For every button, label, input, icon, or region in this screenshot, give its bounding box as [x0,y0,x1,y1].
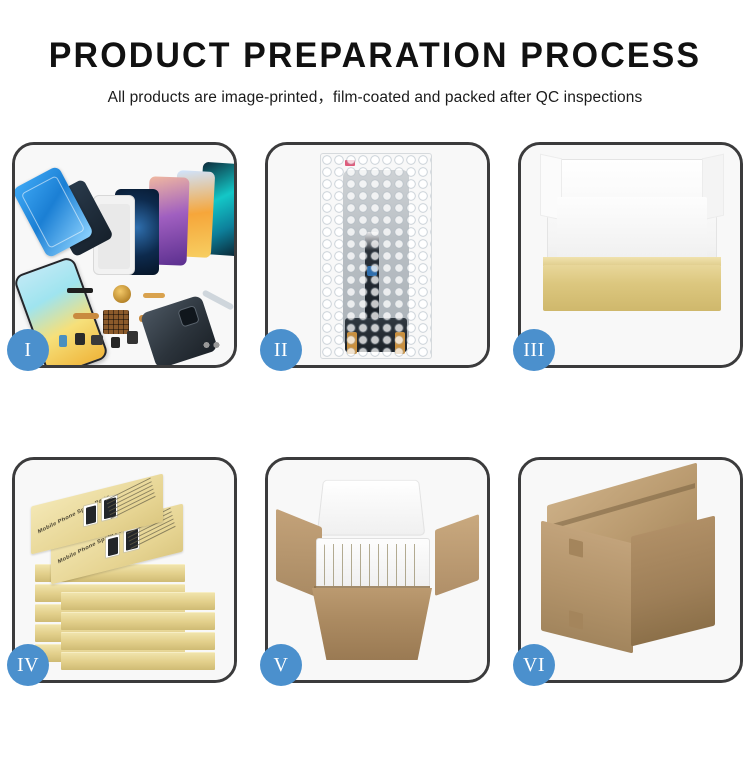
kraft-box-body [543,265,721,311]
box-screen-thumb-3 [83,502,98,528]
step-panel-2[interactable]: II [265,142,490,368]
small-part-2-icon [91,335,103,345]
small-part-1-icon [75,333,85,345]
small-part-3-icon [111,337,120,348]
kraft-box-label-top: Mobile Phone Spare Parts [37,494,110,535]
page-subtitle: All products are image-printed，film-coat… [0,85,750,107]
carton-side-face [631,516,715,647]
step-badge-1: I [7,329,49,371]
phone-back-housing-icon [140,295,219,365]
box-foam-sheet [557,197,707,261]
step-image-4: Mobile Phone Spare Parts Mobile Phone Sp… [15,460,234,680]
step-badge-6: VI [513,644,555,686]
step-image-1 [15,145,234,365]
process-grid: I II [0,142,750,772]
process-row-top: I II [0,142,750,368]
connector-left-icon [347,332,357,354]
chip-grid-icon [103,310,129,334]
small-part-4-icon [127,331,138,344]
kraft-box-stack: Mobile Phone Spare Parts Mobile Phone Sp… [21,476,234,676]
carton-body-open [312,588,432,660]
carton-tab-bottom [569,610,583,629]
step-image-6 [521,460,740,680]
copper-coil-icon [113,285,131,303]
product-preparation-infographic: PRODUCT PREPARATION PROCESS All products… [0,0,750,750]
repair-tool-icon [202,289,234,310]
step-panel-4[interactable]: Mobile Phone Spare Parts Mobile Phone Sp… [12,457,237,683]
foam-lid [317,480,426,536]
step-image-5 [268,460,487,680]
flex-cable-b-icon [143,293,165,298]
part-strip-icon [67,288,93,293]
phones-and-parts-scene [15,145,234,365]
process-row-bottom: Mobile Phone Spare Parts Mobile Phone Sp… [0,457,750,683]
pink-tag-icon [345,160,355,166]
carton-front-face [541,521,633,654]
carton-tab-top [569,538,583,557]
bubble-wrap-bag [320,153,432,359]
kraft-box-speclines-top [106,478,158,529]
carton-flap-right [435,514,479,596]
stack-slab-6 [61,612,215,630]
step-badge-5: V [260,644,302,686]
connector-right-icon [395,332,405,354]
page-title: PRODUCT PREPARATION PROCESS [11,38,739,73]
step-image-2 [268,145,487,365]
header: PRODUCT PREPARATION PROCESS All products… [0,0,750,107]
boxes-inside-carton [324,544,420,586]
step-badge-2: II [260,329,302,371]
screws-icon [201,341,223,349]
small-part-5-icon [59,335,67,347]
step-badge-4: IV [7,644,49,686]
stack-slab-2 [61,652,215,670]
step-panel-3[interactable]: III [518,142,743,368]
step-panel-1[interactable]: I [12,142,237,368]
box-screen-thumb-1 [105,533,120,559]
step-image-3 [521,145,740,365]
step-panel-5[interactable]: V [265,457,490,683]
stack-slab-4 [61,632,215,650]
stack-slab-8 [61,592,215,610]
step-panel-6[interactable]: VI [518,457,743,683]
step-badge-3: III [513,329,555,371]
flex-cable-a-icon [73,313,99,319]
